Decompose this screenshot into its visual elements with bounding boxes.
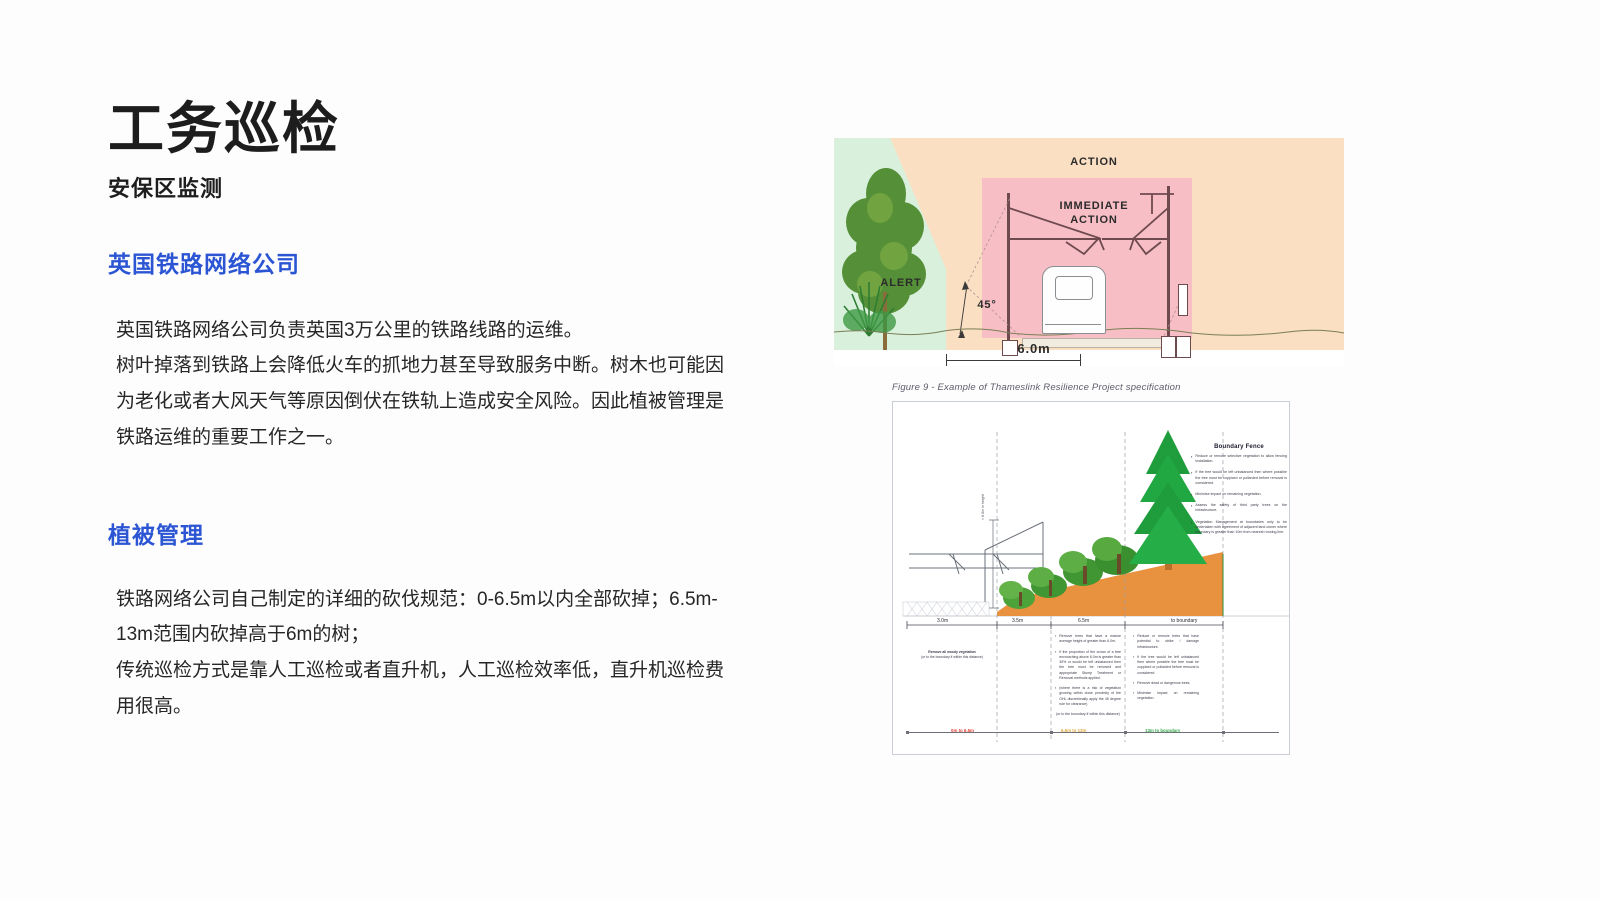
train-skirt-line [1045, 324, 1101, 325]
bullet-icon: ▪ [1133, 634, 1134, 650]
list-item: ▪ Reduce or remove trees that have poten… [1133, 634, 1199, 650]
dimension-label-3-0m: 3.0m [937, 618, 948, 624]
boundary-fence-heading: Boundary Fence [1193, 444, 1285, 450]
zone-node-start [906, 731, 909, 734]
signal-foundation [1176, 336, 1191, 358]
zone-label-13m-boundary: 13m to boundary [1145, 728, 1180, 733]
label-immediate-action-line1: IMMEDIATE [1029, 200, 1159, 214]
list-item: ▪ Minimise impact on remaining vegetatio… [1191, 492, 1287, 497]
page-subtitle: 安保区监测 [108, 171, 728, 203]
dimension-label-6-5m: 6.5m [1078, 618, 1089, 624]
column2-bullet-list: ▪ Remove trees that have a mature averag… [1055, 634, 1121, 717]
label-immediate-action-line2: ACTION [1029, 214, 1159, 228]
label-alert: ALERT [856, 277, 946, 289]
content-column: 工务巡检 安保区监测 英国铁路网络公司 英国铁路网络公司负责英国3万公里的铁路线… [108, 98, 728, 724]
label-distance-6m: 6.0m [974, 341, 1094, 356]
list-item-text: If the tree would be left unbalanced the… [1195, 470, 1287, 486]
train-front-view [1042, 266, 1106, 334]
dimension-label-to-boundary: to boundary [1171, 618, 1197, 624]
dimension-label-3-5m: 3.5m [1012, 618, 1023, 624]
list-item: ▪ If the tree would be left unbalanced t… [1133, 655, 1199, 676]
bullet-icon: ▪ [1133, 655, 1134, 676]
list-item: ▪ Remove dead or dangerous trees. [1133, 681, 1199, 686]
zone-node-6-5m [1050, 731, 1053, 734]
figure-column: ACTION IMMEDIATE ACTION ALERT 45° 6.0m F… [834, 138, 1354, 755]
section-heading-vegetation-management: 植被管理 [108, 516, 728, 550]
column1-caption: Remove all woody vegetation (or to the b… [911, 650, 993, 660]
list-item-text: Remove trees that have a mature average … [1059, 634, 1121, 645]
list-item-text: Minimise impact on remaining vegetation. [1137, 691, 1199, 702]
list-item-text: Reduce or remove selective vegetation to… [1195, 454, 1287, 464]
figure-caption: Figure 9 - Example of Thameslink Resilie… [834, 382, 1354, 393]
zone-label-0-6-5m: 0m to 6.5m [951, 728, 974, 733]
horizontal-dimension-line [893, 618, 1289, 632]
signal-head [1178, 284, 1188, 316]
boundary-fence-bullet-list: ▪ Reduce or remove selective vegetation … [1191, 454, 1287, 541]
list-item: ▪ If the tree would be left unbalanced t… [1191, 470, 1287, 486]
list-item: ▪ Vegetation Management at boundaries on… [1191, 520, 1287, 536]
column2-footnote: (or to the boundary if within this dista… [1055, 712, 1121, 717]
label-immediate-action: IMMEDIATE ACTION [1029, 200, 1159, 228]
list-item-text: If the proportion of the crown of a tree… [1059, 650, 1121, 682]
section-heading-network-rail: 英国铁路网络公司 [108, 245, 728, 279]
paragraph: 树叶掉落到铁路上会降低火车的抓地力甚至导致服务中断。树木也可能因为老化或者大风天… [116, 348, 728, 455]
bullet-icon: ▪ [1191, 520, 1192, 536]
list-item: ▪ If the proportion of the crown of a tr… [1055, 650, 1121, 682]
list-item-text: (where there is a risk of vegetation gro… [1059, 686, 1121, 707]
label-angle-45: 45° [967, 299, 1007, 311]
bullet-icon: ▪ [1055, 686, 1056, 707]
bullet-icon: ▪ [1191, 454, 1192, 464]
mast-foundation-right [1161, 336, 1176, 358]
list-item-text: Vegetation Management at boundaries only… [1195, 520, 1287, 536]
vertical-dimension-label: < 6.0m in height [981, 494, 985, 520]
paragraph: 英国铁路网络公司负责英国3万公里的铁路线路的运维。 [116, 313, 728, 349]
zone-node-boundary [1222, 731, 1225, 734]
list-item: ▪ Minimise impact on remaining vegetatio… [1133, 691, 1199, 702]
paragraph: 传统巡检方式是靠人工巡检或者直升机，人工巡检效率低，直升机巡检费用很高。 [116, 653, 728, 724]
bullet-icon: ▪ [1055, 650, 1056, 682]
bullet-icon: ▪ [1191, 470, 1192, 486]
list-item: ▪ Reduce or remove selective vegetation … [1191, 454, 1287, 464]
bullet-icon: ▪ [1191, 503, 1192, 513]
list-item-text: Reduce or remove trees that have potenti… [1137, 634, 1199, 650]
list-item: ▪ Remove trees that have a mature averag… [1055, 634, 1121, 645]
dimension-tick-left [946, 354, 947, 366]
boundary-fence-vegetation-spec: < 6.0m in height Boundary Fence ▪ Reduce… [892, 401, 1290, 755]
list-item-text: If the tree would be left unbalanced the… [1137, 655, 1199, 676]
list-item: ▪ Assess the safety of third party trees… [1191, 503, 1287, 513]
section-body-vegetation-management: 铁路网络公司自己制定的详细的砍伐规范：0-6.5m以内全部砍掉；6.5m-13m… [108, 582, 728, 725]
section-body-network-rail: 英国铁路网络公司负责英国3万公里的铁路线路的运维。 树叶掉落到铁路上会降低火车的… [108, 313, 728, 456]
list-item-text: Minimise impact on remaining vegetation. [1195, 492, 1261, 497]
zone-node-13m [1124, 731, 1127, 734]
bullet-icon: ▪ [1191, 492, 1192, 497]
bullet-icon: ▪ [1055, 634, 1056, 645]
dimension-line-6m [946, 360, 1081, 361]
page-title: 工务巡检 [108, 98, 728, 161]
list-item-text: Remove dead or dangerous trees. [1137, 681, 1190, 686]
bullet-icon: ▪ [1133, 681, 1134, 686]
railway-clearance-zone-diagram: ACTION IMMEDIATE ACTION ALERT 45° 6.0m [834, 138, 1344, 366]
bullet-icon: ▪ [1133, 691, 1134, 702]
column3-bullet-list: ▪ Reduce or remove trees that have poten… [1133, 634, 1199, 707]
paragraph: 铁路网络公司自己制定的详细的砍伐规范：0-6.5m以内全部砍掉；6.5m-13m… [116, 582, 728, 653]
zone-label-6-5-13m: 6.5m to 13m [1061, 728, 1086, 733]
list-item-text: Assess the safety of third party trees o… [1195, 503, 1287, 513]
slide-root: 工务巡检 安保区监测 英国铁路网络公司 英国铁路网络公司负责英国3万公里的铁路线… [0, 0, 1600, 900]
train-windscreen [1055, 276, 1093, 300]
list-item: ▪ (where there is a risk of vegetation g… [1055, 686, 1121, 707]
column1-caption-line2: (or to the boundary if within this dista… [911, 655, 993, 660]
label-action: ACTION [1039, 156, 1149, 168]
